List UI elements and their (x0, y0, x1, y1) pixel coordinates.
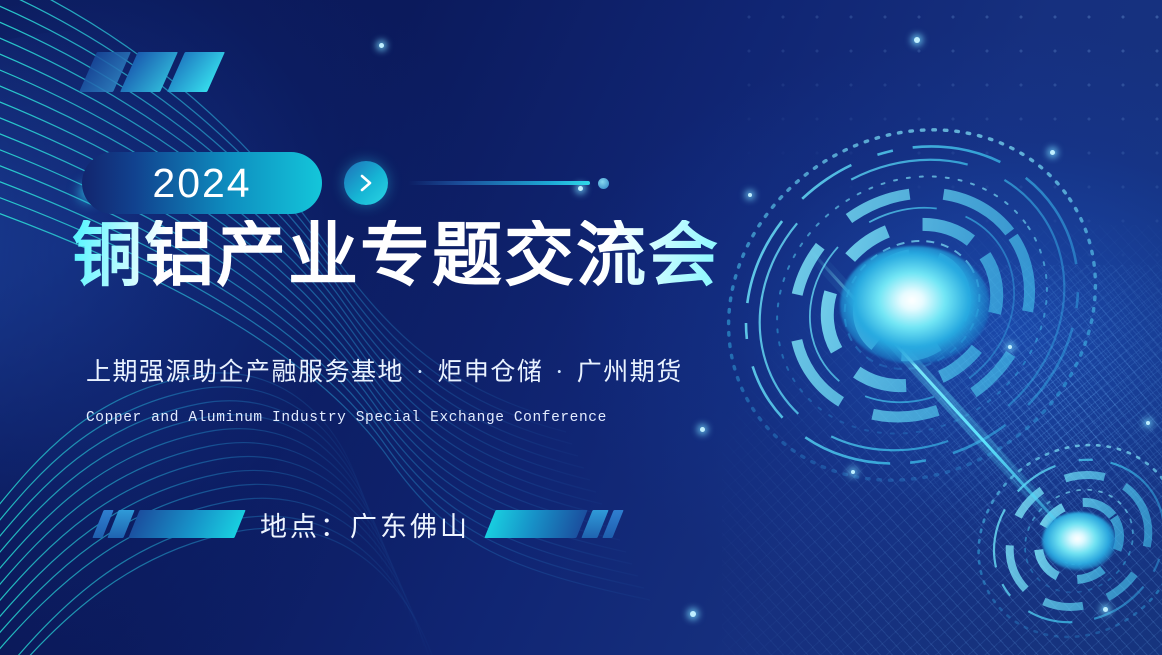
location-label: 地点：广东佛山 (260, 505, 470, 544)
bar-decoration-left (128, 510, 245, 538)
progress-track-decoration (408, 181, 590, 185)
track-end-dot (598, 178, 609, 189)
bar-decoration-right (484, 510, 587, 538)
subtitle-english: Copper and Aluminum Industry Special Exc… (86, 410, 607, 426)
location-row: 地点：广东佛山 (98, 505, 618, 543)
parallelogram-shape (167, 52, 225, 92)
subtitle-part-1: 上期强源助企产融服务基地 (86, 359, 404, 386)
next-arrow-button[interactable] (344, 161, 388, 205)
page-title: 铜铝产业专题交流会 (72, 220, 752, 291)
year-badge: 2024 (82, 152, 322, 214)
subtitle-part-2: 炬申仓储 (437, 359, 543, 386)
chevron-right-icon (358, 173, 374, 193)
year-badge-row: 2024 (82, 152, 609, 214)
corner-parallelogram-decoration (88, 52, 223, 92)
separator-dot: · (412, 359, 430, 386)
conference-banner: 2024 铜铝产业专题交流会 上期强源助企产融服务基地 · 炬申仓储 · 广州期… (0, 0, 1162, 655)
subtitle-part-3: 广州期货 (577, 359, 683, 386)
subtitle-chinese: 上期强源助企产融服务基地 · 炬申仓储 · 广州期货 (86, 352, 683, 388)
separator-dot: · (551, 359, 569, 386)
year-label: 2024 (152, 160, 251, 207)
banner-content: 2024 铜铝产业专题交流会 上期强源助企产融服务基地 · 炬申仓储 · 广州期… (0, 0, 1162, 655)
